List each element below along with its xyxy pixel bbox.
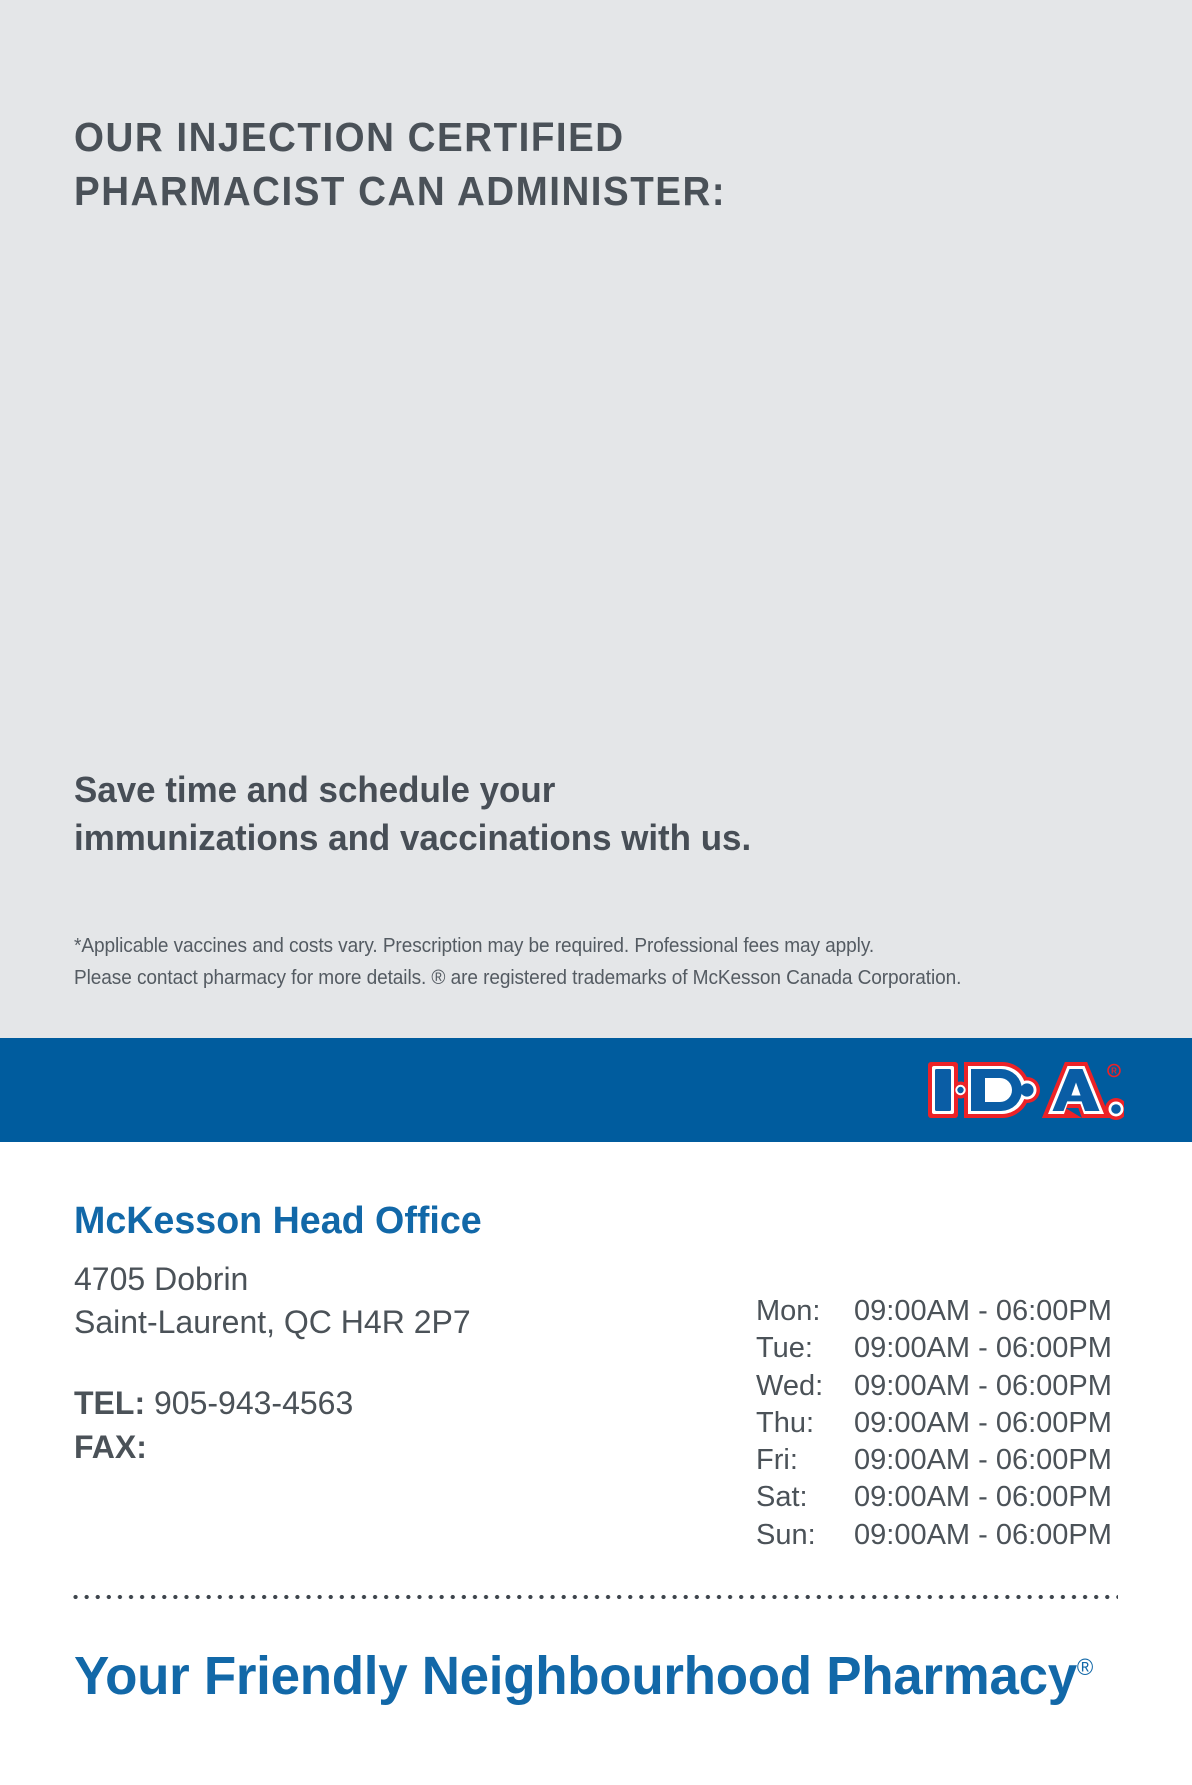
store-hours-table: Mon: 09:00AM - 06:00PM Tue: 09:00AM - 06… — [756, 1293, 1112, 1554]
disclaimer-line-1: *Applicable vaccines and costs vary. Pre… — [74, 930, 1060, 962]
ida-logo-icon: R — [924, 1052, 1124, 1128]
callout-line-2: immunizations and vaccinations with us. — [74, 814, 986, 862]
top-gray-panel: OUR INJECTION CERTIFIED PHARMACIST CAN A… — [0, 0, 1192, 1038]
hours-time-value: 09:00AM - 06:00PM — [854, 1293, 1112, 1330]
store-hours-body: Mon: 09:00AM - 06:00PM Tue: 09:00AM - 06… — [756, 1293, 1112, 1554]
footer-tagline: Your Friendly Neighbourhood Pharmacy® — [74, 1645, 1093, 1707]
callout-text: Save time and schedule your immunization… — [74, 766, 986, 862]
hours-day-label: Mon: — [756, 1293, 854, 1330]
disclaimer-text: *Applicable vaccines and costs vary. Pre… — [74, 930, 1060, 994]
hours-time-value: 09:00AM - 06:00PM — [854, 1405, 1112, 1442]
dotted-divider — [70, 1593, 1118, 1601]
hours-day-label: Sun: — [756, 1517, 854, 1554]
store-address: 4705 Dobrin Saint-Laurent, QC H4R 2P7 — [74, 1258, 471, 1343]
telephone-row: TEL: 905-943-4563 — [74, 1382, 353, 1426]
hours-time-value: 09:00AM - 06:00PM — [854, 1368, 1112, 1405]
store-name: McKesson Head Office — [74, 1200, 482, 1243]
hours-day-label: Sat: — [756, 1479, 854, 1516]
hours-time-value: 09:00AM - 06:00PM — [854, 1442, 1112, 1479]
fax-row: FAX: — [74, 1426, 353, 1470]
table-row: Sat: 09:00AM - 06:00PM — [756, 1479, 1112, 1516]
disclaimer-line-2: Please contact pharmacy for more details… — [74, 962, 1060, 994]
hours-day-label: Tue: — [756, 1330, 854, 1367]
hours-day-label: Thu: — [756, 1405, 854, 1442]
address-line-2: Saint-Laurent, QC H4R 2P7 — [74, 1301, 471, 1344]
vaccine-list-region — [74, 215, 1114, 745]
address-line-1: 4705 Dobrin — [74, 1258, 471, 1301]
callout-line-1: Save time and schedule your — [74, 766, 986, 814]
pharmacy-flyer-page: OUR INJECTION CERTIFIED PHARMACIST CAN A… — [0, 0, 1192, 1785]
store-contact-numbers: TEL: 905-943-4563 FAX: — [74, 1382, 353, 1469]
table-row: Tue: 09:00AM - 06:00PM — [756, 1330, 1112, 1367]
hours-day-label: Fri: — [756, 1442, 854, 1479]
table-row: Fri: 09:00AM - 06:00PM — [756, 1442, 1112, 1479]
table-row: Sun: 09:00AM - 06:00PM — [756, 1517, 1112, 1554]
headline-line-2: PHARMACIST CAN ADMINISTER: — [74, 165, 920, 218]
tagline-text: Your Friendly Neighbourhood Pharmacy — [74, 1646, 1077, 1706]
hours-time-value: 09:00AM - 06:00PM — [854, 1479, 1112, 1516]
hours-day-label: Wed: — [756, 1368, 854, 1405]
hours-time-value: 09:00AM - 06:00PM — [854, 1517, 1112, 1554]
table-row: Thu: 09:00AM - 06:00PM — [756, 1405, 1112, 1442]
registered-trademark-icon: ® — [1077, 1654, 1093, 1680]
headline-line-1: OUR INJECTION CERTIFIED — [74, 111, 920, 164]
table-row: Wed: 09:00AM - 06:00PM — [756, 1368, 1112, 1405]
telephone-value[interactable]: 905-943-4563 — [154, 1385, 353, 1421]
telephone-label: TEL: — [74, 1385, 145, 1421]
fax-label: FAX: — [74, 1429, 147, 1465]
svg-text:R: R — [1111, 1066, 1117, 1075]
hours-time-value: 09:00AM - 06:00PM — [854, 1330, 1112, 1367]
table-row: Mon: 09:00AM - 06:00PM — [756, 1293, 1112, 1330]
page-title: OUR INJECTION CERTIFIED PHARMACIST CAN A… — [74, 111, 920, 218]
